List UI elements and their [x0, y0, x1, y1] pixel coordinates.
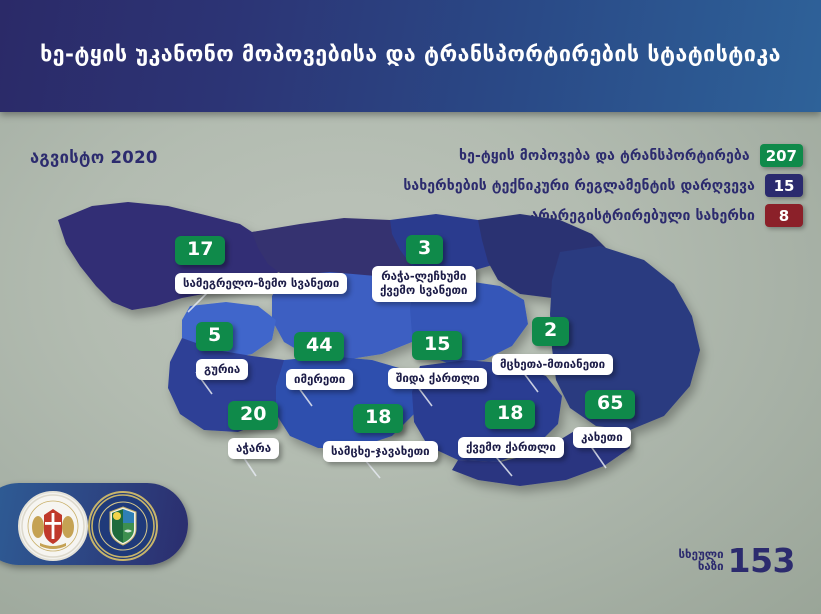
region-name-label: აჭარა	[228, 438, 279, 459]
region-value-badge: 44	[294, 332, 344, 361]
region-value-badge: 65	[585, 390, 635, 419]
map-pin-name[interactable]: გურია	[196, 358, 248, 380]
map-pin-name[interactable]: კახეთი	[573, 426, 631, 448]
map-pin-name[interactable]: მცხეთა-მთიანეთი	[492, 353, 613, 375]
map-pin-value[interactable]: 20	[228, 401, 278, 430]
legend-row: ხე-ტყის მოპოვება და ტრანსპორტირება207	[243, 143, 803, 168]
region-name-label: სამეგრელო-ზემო სვანეთი	[175, 273, 347, 294]
region-name-label: რაჭა-ლეჩხუმი ქვემო სვანეთი	[372, 266, 476, 302]
region-value-badge: 5	[196, 322, 233, 351]
region-name-label: სამცხე-ჯავახეთი	[323, 441, 438, 462]
region-name-label: კახეთი	[573, 427, 631, 448]
total-block: სხეული ხაზი 153	[679, 546, 795, 576]
environmental-supervision-department-seal	[88, 491, 158, 561]
region-value-badge: 15	[412, 331, 462, 360]
region-value-badge: 3	[406, 235, 443, 264]
legend-value-badge: 207	[760, 144, 803, 167]
date-label: აგვისტო 2020	[30, 148, 158, 167]
map-pin-value[interactable]: 18	[485, 400, 535, 429]
map-pin-value[interactable]: 17	[175, 236, 225, 265]
region-name-label: გურია	[196, 359, 248, 380]
map-pin-name[interactable]: სამეგრელო-ზემო სვანეთი	[175, 272, 347, 294]
map-pin-value[interactable]: 3	[406, 235, 443, 264]
map-pin-value[interactable]: 18	[353, 404, 403, 433]
map-pin-value[interactable]: 44	[294, 332, 344, 361]
region-value-badge: 18	[485, 400, 535, 429]
page-header: ხე-ტყის უკანონო მოპოვებისა და ტრანსპორტი…	[0, 0, 821, 112]
map-pin-name[interactable]: ქვემო ქართლი	[458, 436, 564, 458]
map-pin-value[interactable]: 2	[532, 317, 569, 346]
infographic-page: ხე-ტყის უკანონო მოპოვებისა და ტრანსპორტი…	[0, 0, 821, 614]
map-pin-value[interactable]: 65	[585, 390, 635, 419]
total-value: 153	[728, 546, 795, 576]
georgia-coat-of-arms-seal	[18, 491, 88, 561]
logo-plate	[0, 483, 188, 565]
page-title: ხე-ტყის უკანონო მოპოვებისა და ტრანსპორტი…	[0, 42, 821, 67]
map-pin-name[interactable]: რაჭა-ლეჩხუმი ქვემო სვანეთი	[372, 270, 476, 302]
region-name-label: იმერეთი	[286, 369, 353, 390]
region-name-label: ქვემო ქართლი	[458, 437, 564, 458]
map-pin-name[interactable]: სამცხე-ჯავახეთი	[323, 440, 438, 462]
map-pin-value[interactable]: 15	[412, 331, 462, 360]
region-value-badge: 18	[353, 404, 403, 433]
map-pin-value[interactable]: 5	[196, 322, 233, 351]
region-name-label: შიდა ქართლი	[388, 368, 487, 389]
legend-label: ხე-ტყის მოპოვება და ტრანსპორტირება	[459, 148, 750, 164]
map-pin-name[interactable]: შიდა ქართლი	[388, 367, 487, 389]
region-value-badge: 2	[532, 317, 569, 346]
region-value-badge: 17	[175, 236, 225, 265]
region-name-label: მცხეთა-მთიანეთი	[492, 354, 613, 375]
region-value-badge: 20	[228, 401, 278, 430]
map-pin-name[interactable]: აჭარა	[228, 437, 279, 459]
total-label: სხეული ხაზი	[679, 548, 724, 573]
map-pin-name[interactable]: იმერეთი	[286, 368, 353, 390]
